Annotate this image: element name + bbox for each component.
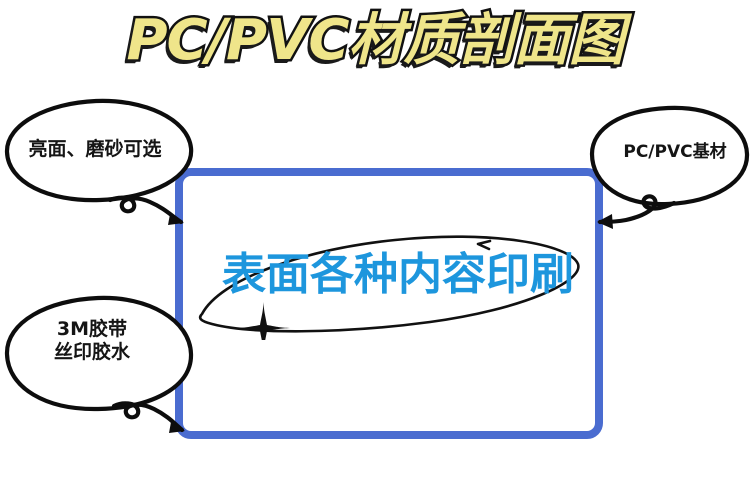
callout-line: PC/PVC基材 (600, 142, 750, 163)
bubble-tail (110, 198, 181, 222)
center-print-label: 表面各种内容印刷 (218, 252, 578, 298)
callout-line: 3M胶带 (6, 318, 178, 341)
material-cross-section-panel (175, 168, 603, 439)
callout-label-adhesive: 3M胶带 丝印胶水 (6, 318, 178, 364)
page-title-container: PC/PVC材质剖面图 (0, 2, 750, 80)
callout-label-substrate: PC/PVC基材 (600, 142, 750, 163)
bubble-tail (114, 403, 182, 430)
page-title: PC/PVC材质剖面图 (126, 13, 623, 69)
bubble-tail (600, 196, 674, 222)
callout-label-surface-finish: 亮面、磨砂可选 (6, 138, 184, 161)
diagram-canvas: PC/PVC材质剖面图 亮面、磨砂可选 3M胶带 丝印胶水 PC/P (0, 0, 750, 500)
callout-line: 丝印胶水 (6, 341, 178, 364)
callout-line: 亮面、磨砂可选 (6, 138, 184, 161)
callout-bubble-substrate (586, 104, 750, 232)
